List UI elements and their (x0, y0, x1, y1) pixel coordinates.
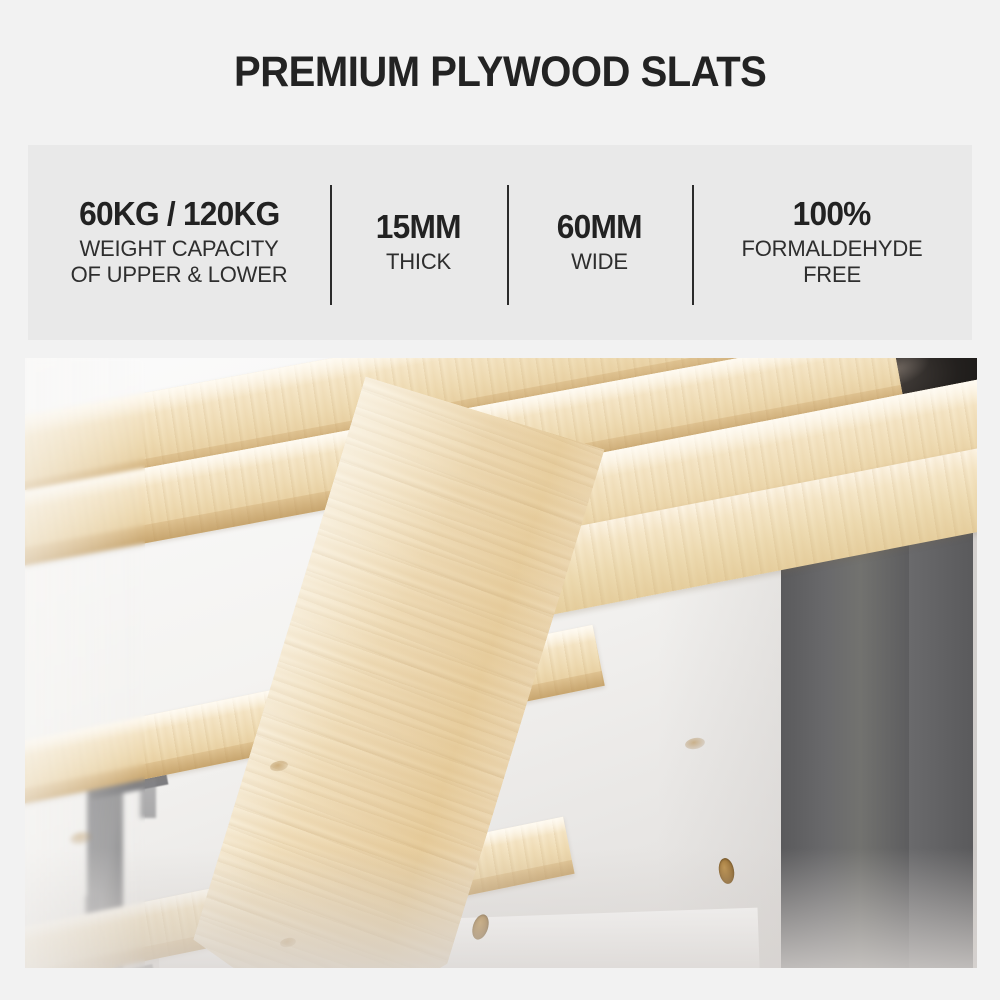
header: PREMIUM PLYWOOD SLATS (0, 0, 1000, 145)
photo-scene: AUSTRALIAN STANDARD MATTRESS COMPATIBLE (25, 358, 977, 968)
spec-divider (692, 185, 694, 305)
spec-item-weight-capacity: 60KG / 120KG WEIGHT CAPACITY OF UPPER & … (28, 145, 330, 340)
photo-floor-shading (25, 848, 977, 968)
page-title: PREMIUM PLYWOOD SLATS (234, 48, 766, 97)
spec-divider (507, 185, 509, 305)
spec-item-width: 60MM WIDE (507, 145, 692, 340)
photo-left-defocus (25, 358, 145, 968)
specification-panel: 60KG / 120KG WEIGHT CAPACITY OF UPPER & … (28, 145, 972, 340)
spec-value: 15MM (376, 209, 461, 246)
spec-value: 60MM (557, 209, 642, 246)
product-photo: AUSTRALIAN STANDARD MATTRESS COMPATIBLE (25, 358, 977, 968)
spec-label-line1: WIDE (571, 249, 628, 276)
spec-label: WIDE (571, 249, 628, 276)
spec-value: 60KG / 120KG (79, 196, 279, 233)
spec-label: THICK (386, 249, 451, 276)
spec-divider (330, 185, 332, 305)
spec-label: FORMALDEHYDE FREE (742, 236, 923, 290)
spec-label-line1: WEIGHT CAPACITY (71, 236, 288, 263)
spec-label: WEIGHT CAPACITY OF UPPER & LOWER (71, 236, 288, 290)
spec-item-thickness: 15MM THICK (330, 145, 507, 340)
spec-label-line1: THICK (386, 249, 451, 276)
spec-value: 100% (793, 196, 871, 233)
spec-label-line1: FORMALDEHYDE (742, 236, 923, 263)
spec-label-line2: FREE (742, 262, 923, 289)
spec-label-line2: OF UPPER & LOWER (71, 262, 288, 289)
spec-item-formaldehyde-free: 100% FORMALDEHYDE FREE (692, 145, 972, 340)
